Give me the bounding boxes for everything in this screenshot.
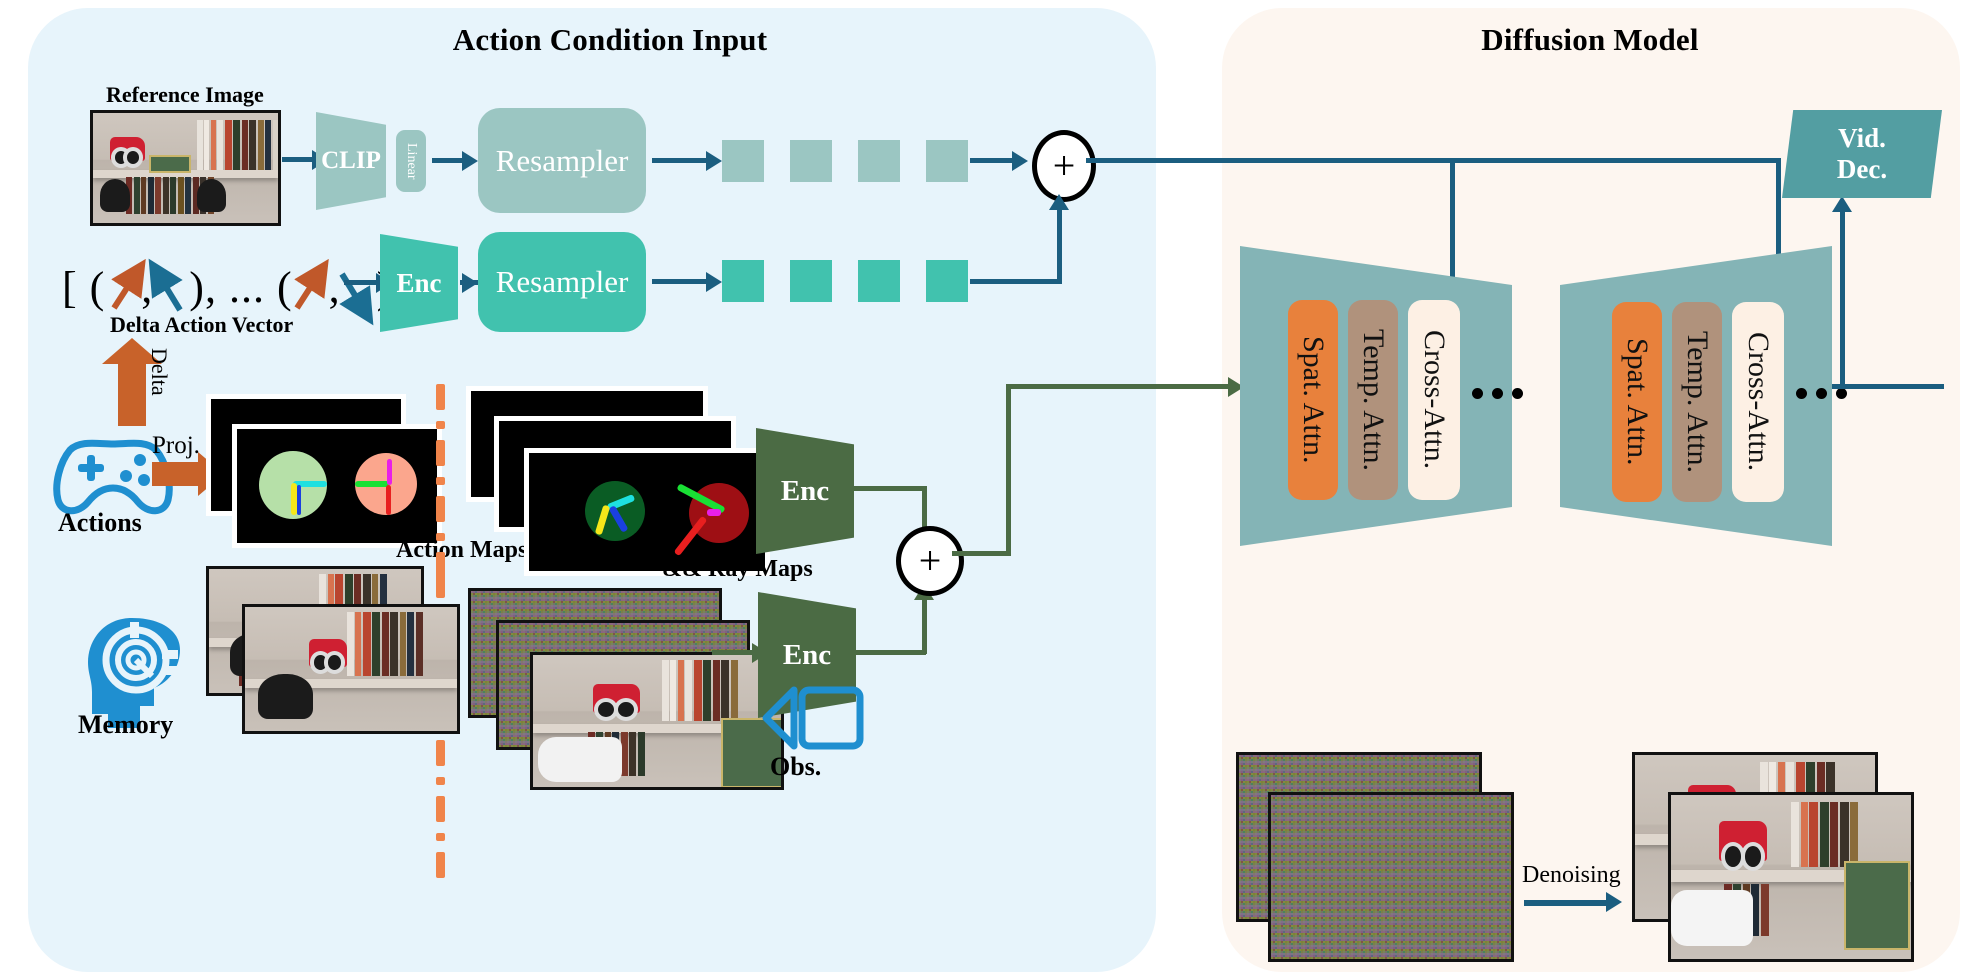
- cond-bus-horizontal: [1086, 158, 1780, 163]
- camera-icon: [760, 682, 870, 754]
- actions-label: Actions: [58, 508, 142, 538]
- viddec-feed-vertical: [1840, 212, 1845, 388]
- memory-label: Memory: [78, 710, 173, 740]
- attn-spatial-up[interactable]: Spat. Attn.: [1612, 302, 1662, 502]
- arrow-resampler2-to-tokens-head: [706, 272, 722, 292]
- resampler-block-action[interactable]: Resampler: [478, 232, 646, 332]
- reference-image-label: Reference Image: [106, 82, 264, 108]
- resampler-action-label: Resampler: [496, 264, 629, 300]
- action-map-axis-green: [355, 481, 389, 487]
- plus-symbol-2: +: [919, 541, 942, 581]
- action-tokens-route-head: [1049, 194, 1069, 210]
- arrow-tokens-to-sum-head: [1012, 151, 1028, 171]
- denoising-arrow-head: [1606, 892, 1622, 912]
- arrow-linear-to-resampler-line: [432, 158, 464, 163]
- proj-label: Proj.: [152, 432, 200, 460]
- enc-ray-out-horizontal: [852, 486, 926, 491]
- attn-spatial-down-label: Spat. Attn.: [1296, 336, 1330, 464]
- action-maps-label: Action Maps: [396, 537, 527, 564]
- attn-cross-up[interactable]: Cross-Attn.: [1732, 302, 1784, 502]
- video-decoder-label-line2: Dec.: [1837, 154, 1887, 185]
- action-enc-block[interactable]: Enc: [380, 234, 458, 332]
- arrow-resampler-to-tokens-head: [706, 151, 722, 171]
- denoise-output-front: [1668, 792, 1914, 962]
- denoising-label: Denoising: [1522, 862, 1621, 889]
- panel-title-diffusion-model: Diffusion Model: [1320, 22, 1860, 58]
- arrow-noisy-to-enc-line: [712, 650, 756, 655]
- sum-node-latent: +: [896, 526, 964, 596]
- sum-to-unet-horizontal: [952, 551, 1010, 556]
- ellipsis-down-block: [1472, 388, 1523, 399]
- action-token: [722, 260, 764, 302]
- delta-label: Delta: [146, 348, 172, 396]
- attn-cross-down[interactable]: Cross-Attn.: [1408, 300, 1460, 500]
- viddec-feed-head: [1832, 196, 1852, 212]
- action-token: [926, 260, 968, 302]
- attn-spatial-up-label: Spat. Attn.: [1620, 338, 1654, 466]
- noisy-obs-frame-front: [530, 652, 784, 790]
- enc-ray-label: Enc: [781, 475, 829, 508]
- action-tokens-route-vertical: [1057, 210, 1062, 282]
- action-enc-label: Enc: [396, 268, 441, 299]
- image-token: [858, 140, 900, 182]
- denoising-arrow-line: [1524, 900, 1610, 906]
- attn-cross-up-label: Cross-Attn.: [1741, 332, 1775, 471]
- unet-entry-horizontal: [1006, 384, 1232, 389]
- attn-cross-down-label: Cross-Attn.: [1417, 330, 1451, 469]
- action-map-frame-front: [232, 424, 442, 548]
- arrow-tokens-to-sum-line: [970, 158, 1016, 163]
- arrow-ref-to-clip-line: [282, 157, 314, 162]
- arrow-enc-to-resampler2-head: [462, 273, 478, 293]
- plus-symbol: +: [1053, 146, 1076, 186]
- panel-title-action-condition: Action Condition Input: [330, 22, 890, 58]
- cond-drop-left: [1450, 158, 1455, 296]
- proj-arrow-shaft: [152, 462, 200, 486]
- arrow-resampler-to-tokens-line: [652, 158, 708, 163]
- delta-action-vector-label: Delta Action Vector: [110, 312, 293, 338]
- ray-maps-label: && Ray Maps: [662, 556, 813, 583]
- action-map-axis-blue: [297, 485, 301, 515]
- reference-image-photo: [90, 110, 281, 226]
- resampler-image-label: Resampler: [496, 143, 629, 179]
- image-token: [722, 140, 764, 182]
- image-token: [790, 140, 832, 182]
- arrow-vector-to-enc-line: [344, 280, 378, 285]
- arrow-linear-to-resampler-head: [462, 151, 478, 171]
- action-tokens-route-horizontal: [970, 279, 1062, 284]
- dashed-separator-top: [436, 384, 445, 578]
- clip-encoder-block[interactable]: CLIP: [316, 112, 386, 210]
- linear-label: Linear: [403, 143, 419, 180]
- attn-spatial-down[interactable]: Spat. Attn.: [1288, 300, 1338, 500]
- action-token: [790, 260, 832, 302]
- obs-label: Obs.: [770, 752, 821, 782]
- enc-block-ray[interactable]: Enc: [756, 428, 854, 554]
- attn-temporal-up-label: Temp. Attn.: [1680, 331, 1714, 473]
- action-map-axis-red: [386, 485, 391, 515]
- action-map-axis-magenta: [387, 459, 392, 485]
- arrow-resampler2-to-tokens-line: [652, 279, 708, 284]
- ellipsis-up-block: [1796, 388, 1847, 399]
- memory-photo-front: [242, 604, 460, 734]
- attn-temporal-up[interactable]: Temp. Attn.: [1672, 302, 1722, 502]
- viddec-feed-horizontal: [1840, 384, 1944, 389]
- video-decoder-label-line1: Vid.: [1838, 123, 1886, 154]
- attn-temporal-down-label: Temp. Attn.: [1356, 329, 1390, 471]
- enc-obs-out-horizontal: [854, 650, 926, 655]
- resampler-block-image[interactable]: Resampler: [478, 108, 646, 213]
- delta-arrow-shaft: [118, 360, 146, 426]
- attn-temporal-down[interactable]: Temp. Attn.: [1348, 300, 1398, 500]
- denoise-input-front: [1268, 792, 1514, 962]
- sum-to-unet-vertical: [1006, 384, 1011, 556]
- clip-label: CLIP: [321, 147, 381, 175]
- linear-block[interactable]: Linear: [396, 130, 426, 192]
- enc-obs-label: Enc: [783, 639, 831, 672]
- ray-map-axis-magenta: [707, 509, 721, 516]
- enc-obs-out-vertical: [922, 600, 927, 654]
- image-token: [926, 140, 968, 182]
- video-decoder-block[interactable]: Vid. Dec.: [1782, 110, 1942, 198]
- action-token: [858, 260, 900, 302]
- sum-node-conditioning: +: [1032, 130, 1096, 202]
